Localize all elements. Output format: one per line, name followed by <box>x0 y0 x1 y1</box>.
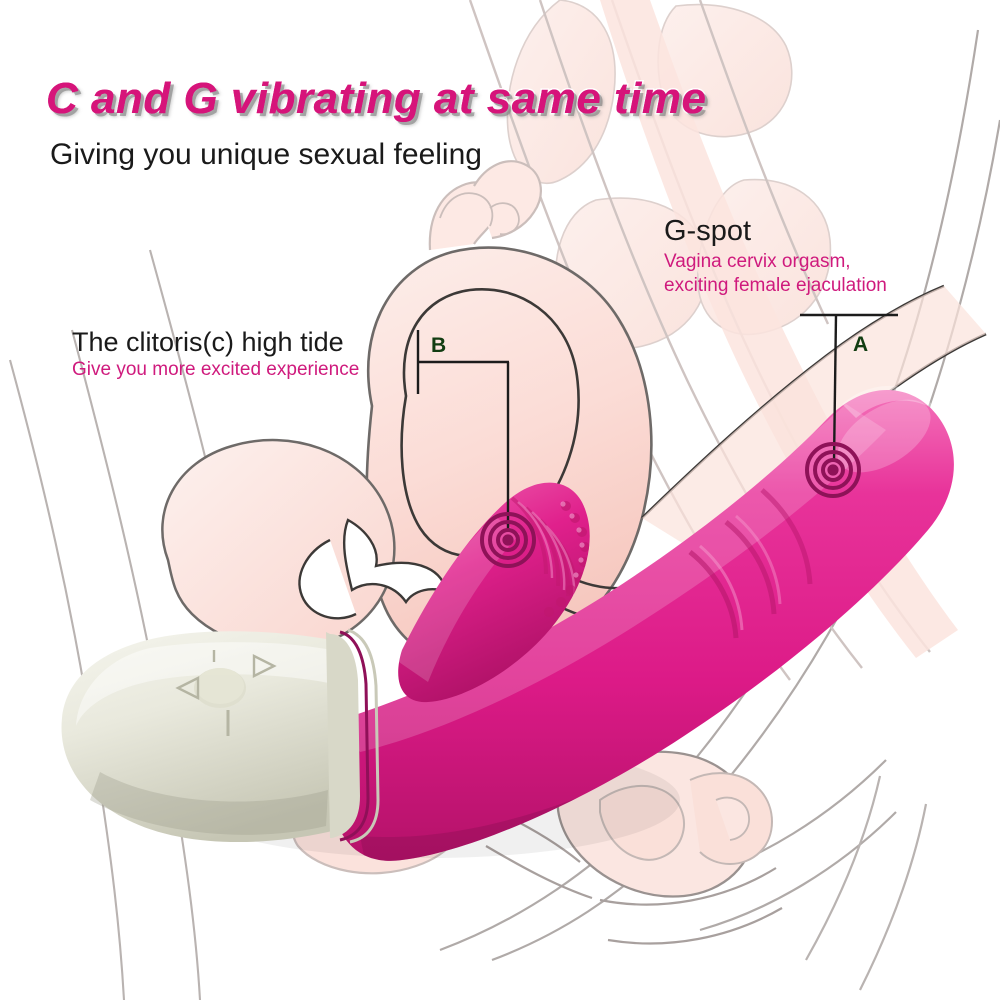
callout-letter-a: A <box>853 333 868 357</box>
annotation-gspot-subtitle-line1: Vagina cervix orgasm, <box>664 250 994 273</box>
page-headline-fill: C and G vibrating at same time <box>46 74 707 124</box>
infographic-canvas: C and G vibrating at same time C and G v… <box>0 0 1000 1000</box>
annotation-clitoris-subtitle: Give you more excited experience <box>72 360 422 381</box>
annotation-gspot-subtitle-line2: exciting female ejaculation <box>664 274 994 297</box>
callout-letter-b: B <box>431 334 446 358</box>
leader-line-a <box>800 315 898 462</box>
annotation-gspot-title: G-spot <box>664 216 994 246</box>
annotation-clitoris: The clitoris(c) high tide Give you more … <box>72 328 422 381</box>
annotation-gspot: G-spot Vagina cervix orgasm, exciting fe… <box>664 216 994 297</box>
leader-line-b <box>418 330 509 532</box>
g-spot-marker <box>807 444 859 496</box>
page-subheadline: Giving you unique sexual feeling <box>50 138 482 172</box>
annotation-clitoris-title: The clitoris(c) high tide <box>72 328 422 356</box>
clitoris-marker <box>482 514 534 566</box>
